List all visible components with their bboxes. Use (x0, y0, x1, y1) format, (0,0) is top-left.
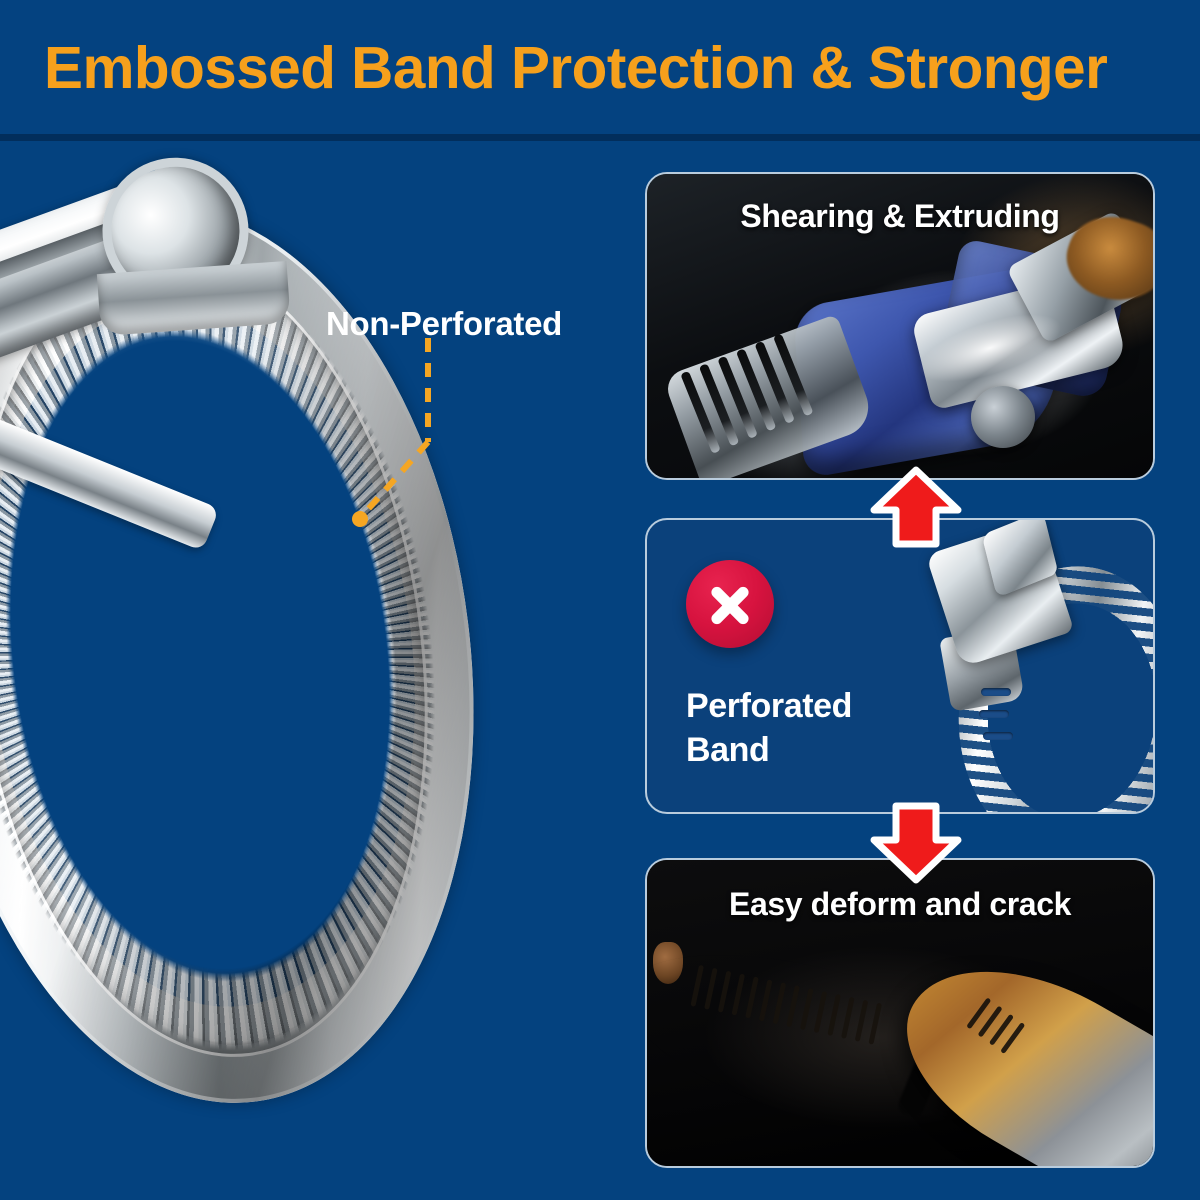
callout-leader-line (300, 330, 560, 540)
x-mark-icon (686, 560, 774, 648)
infographic-root: Embossed Band Protection & Stronger Non-… (0, 0, 1200, 1200)
panel-title-deform: Easy deform and crack (647, 886, 1153, 923)
panel-shearing-extruding[interactable]: Shearing & Extruding (645, 172, 1155, 480)
band-slot (981, 688, 1011, 696)
perforated-line-2: Band (686, 728, 936, 772)
perforated-line-1: Perforated (686, 684, 936, 728)
panel-title-shearing: Shearing & Extruding (647, 198, 1153, 235)
clamp-nut (971, 386, 1035, 448)
panel-perforated-band[interactable]: Perforated Band (645, 518, 1155, 814)
perforated-clamp-illustration (935, 528, 1151, 814)
housing-tail (97, 261, 291, 336)
arrow-up-icon (868, 466, 964, 550)
page-title: Embossed Band Protection & Stronger (44, 32, 1173, 104)
band-slot (979, 710, 1009, 718)
header-banner: Embossed Band Protection & Stronger (0, 0, 1200, 137)
arrow-down-icon (868, 800, 964, 884)
band-slot (983, 732, 1013, 740)
panel-title-perforated: Perforated Band (686, 684, 936, 772)
panel-easy-deform-crack[interactable]: Easy deform and crack (645, 858, 1155, 1168)
